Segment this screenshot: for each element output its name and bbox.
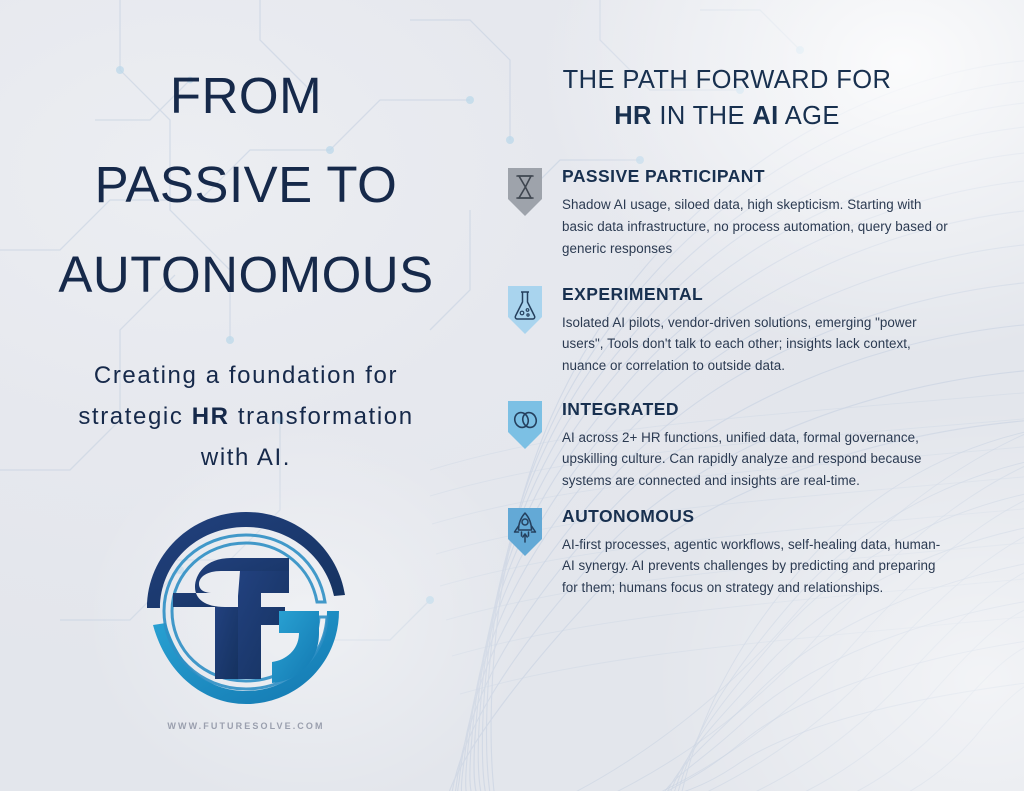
stage-item-autonomous: AUTONOMOUS AI-first processes, agentic w… <box>506 504 950 599</box>
headline-line-2: PASSIVE TO <box>0 147 492 222</box>
stage-title: INTEGRATED <box>562 399 950 420</box>
stage-description: Shadow AI usage, siloed data, high skept… <box>562 194 950 259</box>
right-header-hr: HR <box>614 102 652 130</box>
rocket-icon <box>506 506 544 558</box>
subheadline-hr-bold: HR <box>192 403 230 430</box>
stage-description: Isolated AI pilots, vendor-driven soluti… <box>562 312 950 377</box>
right-header-end: AGE <box>779 102 840 130</box>
futuresolve-logo <box>139 501 353 715</box>
subheadline-line-2b: transformation <box>230 403 414 430</box>
stage-title: EXPERIMENTAL <box>562 284 950 305</box>
brand-logo-block: WWW.FUTURESOLVE.COM <box>0 501 492 731</box>
stage-item-integrated: INTEGRATED AI across 2+ HR functions, un… <box>506 397 950 492</box>
stage-description: AI-first processes, agentic workflows, s… <box>562 534 950 599</box>
headline-line-1: FROM <box>0 58 492 133</box>
stage-body: EXPERIMENTAL Isolated AI pilots, vendor-… <box>562 282 950 377</box>
subheadline-line-1: Creating a foundation for <box>94 362 398 389</box>
stage-body: PASSIVE PARTICIPANT Shadow AI usage, sil… <box>562 164 950 259</box>
right-header-mid: IN THE <box>652 102 753 130</box>
badge-passive-participant <box>506 166 544 218</box>
links-icon <box>506 399 544 451</box>
stage-item-experimental: EXPERIMENTAL Isolated AI pilots, vendor-… <box>506 282 950 377</box>
badge-autonomous <box>506 506 544 558</box>
subheadline-line-2a: strategic <box>78 403 191 430</box>
stage-item-passive-participant: PASSIVE PARTICIPANT Shadow AI usage, sil… <box>506 164 950 259</box>
headline-line-3: AUTONOMOUS <box>0 237 492 312</box>
logo-monogram-stem <box>215 607 238 679</box>
hourglass-icon <box>506 166 544 218</box>
right-column: THE PATH FORWARD FOR HR IN THE AI AGE <box>492 0 1024 791</box>
infographic-root: FROM PASSIVE TO AUTONOMOUS Creating a fo… <box>0 0 1024 791</box>
right-header-ai: AI <box>752 102 778 130</box>
stage-body: AUTONOMOUS AI-first processes, agentic w… <box>562 504 950 599</box>
subheadline: Creating a foundation for strategic HR t… <box>0 356 492 478</box>
brand-url: WWW.FUTURESOLVE.COM <box>167 721 324 731</box>
flask-icon <box>506 284 544 336</box>
stage-description: AI across 2+ HR functions, unified data,… <box>562 427 950 492</box>
left-column: FROM PASSIVE TO AUTONOMOUS Creating a fo… <box>0 0 492 791</box>
subheadline-line-3: with AI. <box>201 444 291 471</box>
stage-title: AUTONOMOUS <box>562 506 950 527</box>
main-headline: FROM PASSIVE TO AUTONOMOUS <box>0 58 492 312</box>
badge-experimental <box>506 284 544 336</box>
stage-body: INTEGRATED AI across 2+ HR functions, un… <box>562 397 950 492</box>
stage-list: PASSIVE PARTICIPANT Shadow AI usage, sil… <box>492 164 1024 598</box>
badge-integrated <box>506 399 544 451</box>
right-header-line-1: THE PATH FORWARD FOR <box>563 66 892 94</box>
right-header: THE PATH FORWARD FOR HR IN THE AI AGE <box>492 62 1024 134</box>
stage-title: PASSIVE PARTICIPANT <box>562 166 950 187</box>
